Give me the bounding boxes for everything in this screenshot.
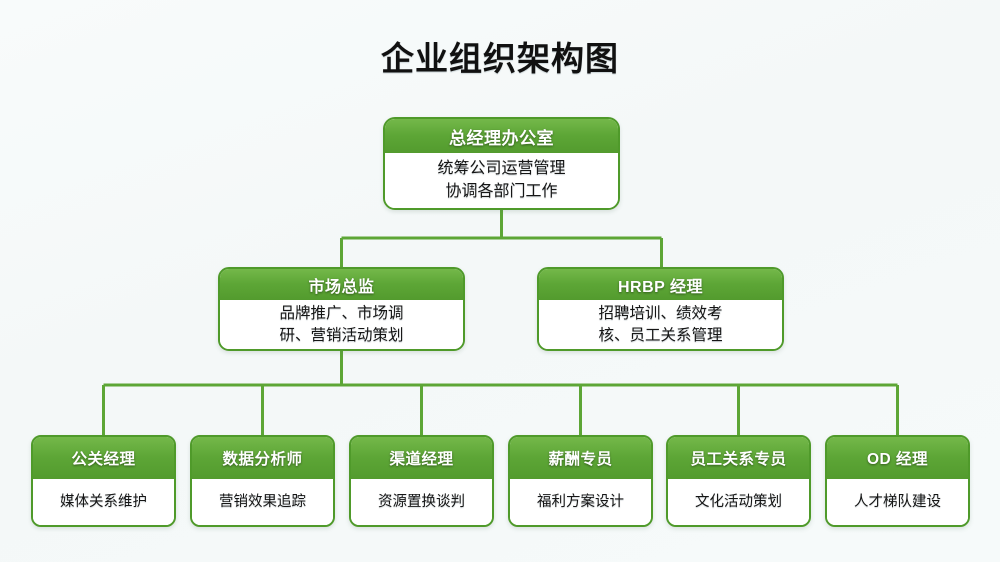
org-node-description-line: 协调各部门工作: [437, 181, 565, 203]
org-node-gm-office[interactable]: 总经理办公室 统筹公司运营管理 协调各部门工作: [383, 117, 620, 210]
org-node-hrbp-manager[interactable]: HRBP 经理 招聘培训、绩效考 核、员工关系管理: [537, 267, 784, 351]
org-node-title: 员工关系专员: [668, 437, 809, 479]
org-node-title: 数据分析师: [192, 437, 333, 479]
org-node-title: 公关经理: [33, 437, 174, 479]
org-node-description-line: 统筹公司运营管理: [437, 158, 565, 180]
org-node-title: HRBP 经理: [539, 269, 782, 300]
org-node-channel-manager[interactable]: 渠道经理 资源置换谈判: [349, 435, 494, 527]
org-node-description: 营销效果追踪: [192, 479, 333, 525]
org-node-title: 薪酬专员: [510, 437, 651, 479]
org-node-pr-manager[interactable]: 公关经理 媒体关系维护: [31, 435, 176, 527]
page-title: 企业组织架构图: [0, 32, 1000, 80]
org-node-description: 品牌推广、市场调 研、营销活动策划: [220, 300, 463, 349]
org-node-description: 人才梯队建设: [827, 479, 968, 525]
org-node-title: 总经理办公室: [385, 119, 618, 153]
org-node-description: 文化活动策划: [668, 479, 809, 525]
org-node-marketing-director[interactable]: 市场总监 品牌推广、市场调 研、营销活动策划: [218, 267, 465, 351]
org-node-title: 渠道经理: [351, 437, 492, 479]
org-node-description: 媒体关系维护: [33, 479, 174, 525]
org-node-data-analyst[interactable]: 数据分析师 营销效果追踪: [190, 435, 335, 527]
org-node-description-line: 招聘培训、绩效考: [598, 303, 722, 324]
org-chart-canvas: 企业组织架构图 总经理办公室 统筹公司运营管: [0, 0, 1000, 562]
org-node-comp-specialist[interactable]: 薪酬专员 福利方案设计: [508, 435, 653, 527]
org-node-er-specialist[interactable]: 员工关系专员 文化活动策划: [666, 435, 811, 527]
org-node-description: 统筹公司运营管理 协调各部门工作: [385, 153, 618, 208]
org-node-title: OD 经理: [827, 437, 968, 479]
org-node-description: 福利方案设计: [510, 479, 651, 525]
org-node-title: 市场总监: [220, 269, 463, 300]
org-node-description: 资源置换谈判: [351, 479, 492, 525]
org-node-description-line: 研、营销活动策划: [279, 325, 403, 346]
org-node-od-manager[interactable]: OD 经理 人才梯队建设: [825, 435, 970, 527]
org-node-description-line: 品牌推广、市场调: [279, 303, 403, 324]
org-node-description-line: 核、员工关系管理: [598, 325, 722, 346]
org-node-description: 招聘培训、绩效考 核、员工关系管理: [539, 300, 782, 349]
